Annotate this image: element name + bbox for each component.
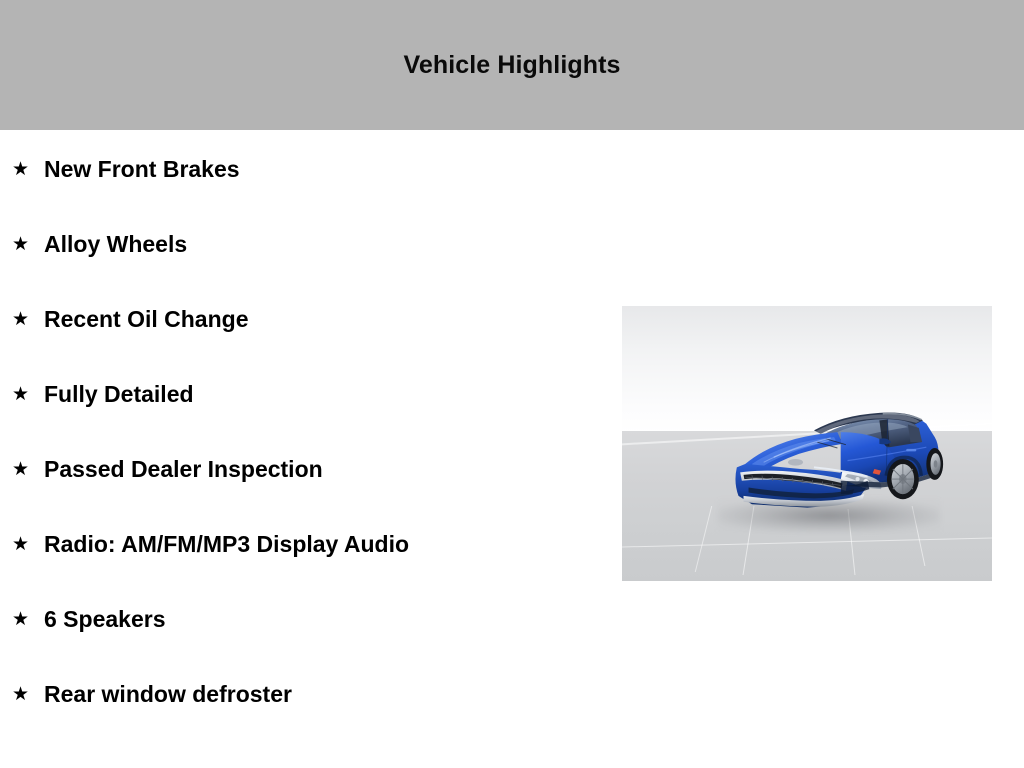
list-item: ★ 6 Speakers (0, 580, 600, 655)
list-item: ★ Alloy Wheels (0, 205, 600, 280)
list-item-label: Alloy Wheels (44, 205, 504, 259)
list-item: ★ Recent Oil Change (0, 280, 600, 355)
list-item-label: Rear window defroster (44, 655, 504, 709)
star-bullet-icon: ★ (12, 280, 44, 336)
vehicle-photo (622, 306, 992, 581)
list-item: ★ Radio: AM/FM/MP3 Display Audio (0, 505, 600, 580)
star-bullet-icon: ★ (12, 130, 44, 186)
list-item-label: New Front Brakes (44, 130, 504, 184)
header-bar: Vehicle Highlights (0, 0, 1024, 130)
list-item-label: Recent Oil Change (44, 280, 504, 334)
list-item: ★ Passed Dealer Inspection (0, 430, 600, 505)
star-bullet-icon: ★ (12, 580, 44, 636)
list-item-label: Radio: AM/FM/MP3 Display Audio (44, 505, 504, 559)
vehicle-highlights-list: ★ New Front Brakes ★ Alloy Wheels ★ Rece… (0, 130, 600, 730)
page-title: Vehicle Highlights (0, 50, 1024, 80)
star-bullet-icon: ★ (12, 655, 44, 711)
list-item: ★ Fully Detailed (0, 355, 600, 430)
list-item: ★ New Front Brakes (0, 130, 600, 205)
star-bullet-icon: ★ (12, 505, 44, 561)
list-item: ★ Rear window defroster (0, 655, 600, 730)
vehicle-illustration (715, 386, 967, 524)
floor-seam (636, 506, 713, 572)
list-item-label: 6 Speakers (44, 580, 504, 634)
star-bullet-icon: ★ (12, 205, 44, 261)
list-item-label: Passed Dealer Inspection (44, 430, 504, 484)
star-bullet-icon: ★ (12, 355, 44, 411)
list-item-label: Fully Detailed (44, 355, 504, 409)
star-bullet-icon: ★ (12, 430, 44, 486)
